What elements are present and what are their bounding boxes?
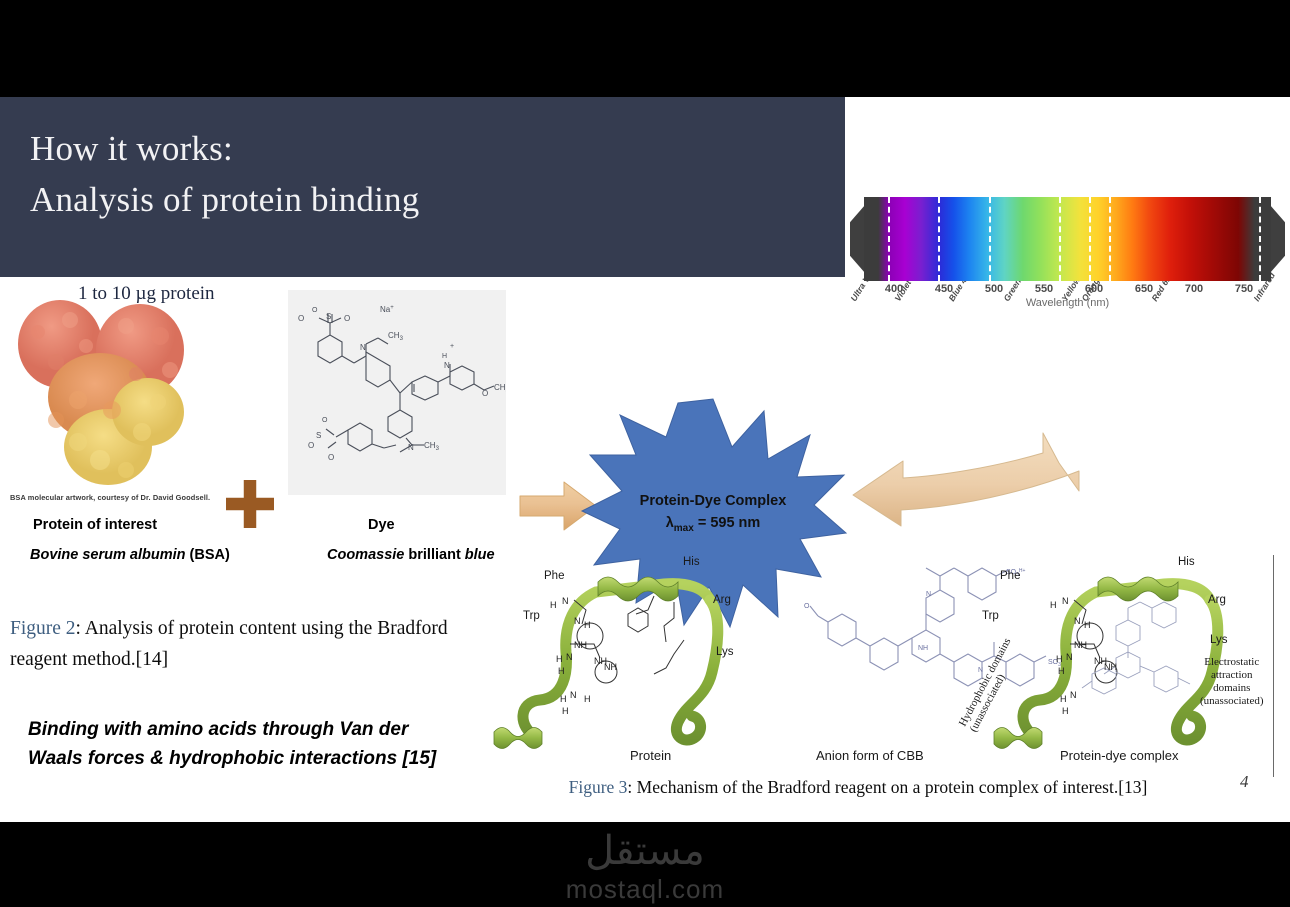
mech-right-label-his: His <box>1178 556 1195 568</box>
mech-electrostatic-note: Electrostatic attraction domains (unasso… <box>1200 656 1264 708</box>
svg-text:H: H <box>442 353 447 360</box>
coomassie-structure-svg: Na+ O O O S N CH3 N H + O CH3 N CH3 O S … <box>288 290 506 495</box>
spectrum-bar: 400 450 500 550 600 650 700 750 <box>850 197 1285 281</box>
svg-text:N: N <box>444 361 450 370</box>
svg-text:N: N <box>566 652 573 662</box>
svg-text:H: H <box>1060 694 1067 704</box>
svg-text:O: O <box>298 314 304 323</box>
svg-text:+: + <box>450 343 454 350</box>
spectrum-tick-700: 700 <box>1185 283 1203 295</box>
dye-structure-figure: Na+ O O O S N CH3 N H + O CH3 N CH3 O S … <box>288 290 506 495</box>
visible-spectrum-figure: Ultra Violet Violet 400-450 nm Blue 450-… <box>845 97 1290 325</box>
figure3-text: : Mechanism of the Bradford reagent on a… <box>627 777 1147 797</box>
svg-text:H: H <box>1062 706 1069 716</box>
svg-text:H: H <box>1056 654 1063 664</box>
svg-text:N: N <box>408 443 414 452</box>
mech-left-label-trp: Trp <box>523 610 540 622</box>
spectrum-divider-760 <box>1259 197 1261 281</box>
spectrum-divider-400 <box>888 197 890 281</box>
svg-text:NH: NH <box>1104 662 1117 672</box>
spectrum-divider-500 <box>989 197 991 281</box>
figure3-number: Figure 3 <box>569 777 628 797</box>
mostaql-watermark: مستقل mostaql.com <box>0 828 1290 904</box>
svg-text:N: N <box>360 343 366 352</box>
svg-text:H: H <box>584 694 591 704</box>
svg-text:N: N <box>570 690 577 700</box>
mech-right-label-trp: Trp <box>982 610 999 622</box>
svg-text:NH: NH <box>604 662 617 672</box>
mech-left-label-arg: Arg <box>713 594 731 606</box>
svg-text:NH: NH <box>918 645 928 652</box>
mech-left-label-his: His <box>683 556 700 568</box>
dye-name-a: Coomassie <box>327 547 404 563</box>
mech-left-label-lys: Lys <box>716 646 733 658</box>
svg-text:H: H <box>562 706 569 716</box>
bsa-name-label: Bovine serum albumin (BSA) <box>30 547 230 563</box>
svg-text:NH: NH <box>1074 640 1087 650</box>
svg-text:CH3: CH3 <box>388 331 404 342</box>
spectrum-divider-450 <box>938 197 940 281</box>
mech-right-label-lys: Lys <box>1210 634 1227 646</box>
spectrum-tick-450: 450 <box>935 283 953 295</box>
svg-text:H: H <box>558 666 565 676</box>
svg-text:S: S <box>316 431 321 440</box>
svg-text:H: H <box>1050 600 1057 610</box>
spectrum-divider-610 <box>1109 197 1111 281</box>
svg-text:H: H <box>556 654 563 664</box>
watermark-latin: mostaql.com <box>0 874 1290 904</box>
dye-name-b: brilliant <box>404 547 464 563</box>
svg-text:O: O <box>804 603 810 610</box>
dye-name-label: Coomassie brilliant blue <box>327 547 495 563</box>
svg-text:O: O <box>482 389 488 398</box>
svg-text:H: H <box>584 620 591 630</box>
spectrum-tick-750: 750 <box>1235 283 1253 295</box>
spectrum-axis-label: Wavelength (nm) <box>845 297 1290 309</box>
bsa-name-rest: (BSA) <box>186 547 230 563</box>
bsa-protein-image <box>8 292 208 492</box>
svg-text:S: S <box>326 312 331 321</box>
spectrum-tick-550: 550 <box>1035 283 1053 295</box>
spectrum-divider-590 <box>1089 197 1091 281</box>
svg-text:N: N <box>1066 652 1073 662</box>
dye-label: Dye <box>368 517 395 533</box>
svg-text:CH3: CH3 <box>494 383 506 394</box>
svg-text:O: O <box>312 307 318 314</box>
svg-text:O: O <box>328 453 334 462</box>
svg-text:N: N <box>1074 616 1081 626</box>
spectrum-tick-600: 600 <box>1085 283 1103 295</box>
spectrum-tick-400: 400 <box>885 283 903 295</box>
mech-left-caption: Protein <box>630 748 671 763</box>
watermark-arabic: مستقل <box>0 828 1290 874</box>
protein-of-interest-label: Protein of interest <box>33 517 157 533</box>
mech-right-label-phe: Phe <box>1000 570 1020 582</box>
bsa-name-italic: Bovine serum albumin <box>30 547 186 563</box>
mech-right-label-arg: Arg <box>1208 594 1226 606</box>
protein-amount-label: 1 to 10 µg protein <box>78 283 215 305</box>
figure2-caption: Figure 2: Analysis of protein content us… <box>10 613 490 675</box>
svg-text:O: O <box>322 417 328 424</box>
svg-text:O: O <box>308 441 314 450</box>
spectrum-divider-570 <box>1059 197 1061 281</box>
slide-header: How it works: Analysis of protein bindin… <box>0 97 845 277</box>
plus-icon <box>226 480 274 528</box>
spectrum-tick-650: 650 <box>1135 283 1153 295</box>
svg-text:H: H <box>550 600 557 610</box>
dye-sodium-label: Na+ <box>380 305 394 314</box>
svg-text:NH: NH <box>574 640 587 650</box>
figure3-caption: Figure 3: Mechanism of the Bradford reag… <box>478 777 1238 798</box>
mechanism-svg: HNNH NHHNHNH HNHH NH <box>478 552 1274 767</box>
svg-text:H: H <box>1084 620 1091 630</box>
figure2-text: : Analysis of protein content using the … <box>10 618 448 670</box>
svg-text:N: N <box>574 616 581 626</box>
spectrum-tick-500: 500 <box>985 283 1003 295</box>
svg-text:N: N <box>562 596 569 606</box>
mech-middle-caption: Anion form of CBB <box>816 748 924 763</box>
svg-text:O: O <box>344 314 350 323</box>
slide-canvas: How it works: Analysis of protein bindin… <box>0 97 1290 822</box>
page-title: How it works: Analysis of protein bindin… <box>30 123 419 225</box>
svg-text:N: N <box>1062 596 1069 606</box>
spectrum-gradient <box>864 197 1271 281</box>
svg-text:H: H <box>560 694 567 704</box>
figure3-mechanism-diagram: HNNH NHHNHNH HNHH NH <box>478 552 1274 767</box>
slide-number: 4 <box>1240 772 1249 792</box>
bsa-image-credit: BSA molecular artwork, courtesy of Dr. D… <box>10 493 240 502</box>
svg-text:H: H <box>1058 666 1065 676</box>
svg-text:N: N <box>926 591 931 598</box>
recycle-arrow-left-icon <box>845 427 1085 552</box>
svg-text:N: N <box>1070 690 1077 700</box>
figure2-number: Figure 2 <box>10 618 76 639</box>
top-letterbox-band <box>0 0 1290 97</box>
figure3-right-border <box>1273 555 1274 777</box>
mech-left-label-phe: Phe <box>544 570 564 582</box>
binding-note: Binding with amino acids through Van der… <box>28 715 458 773</box>
mech-right-caption: Protein-dye complex <box>1060 748 1179 763</box>
svg-text:CH3: CH3 <box>424 441 440 452</box>
